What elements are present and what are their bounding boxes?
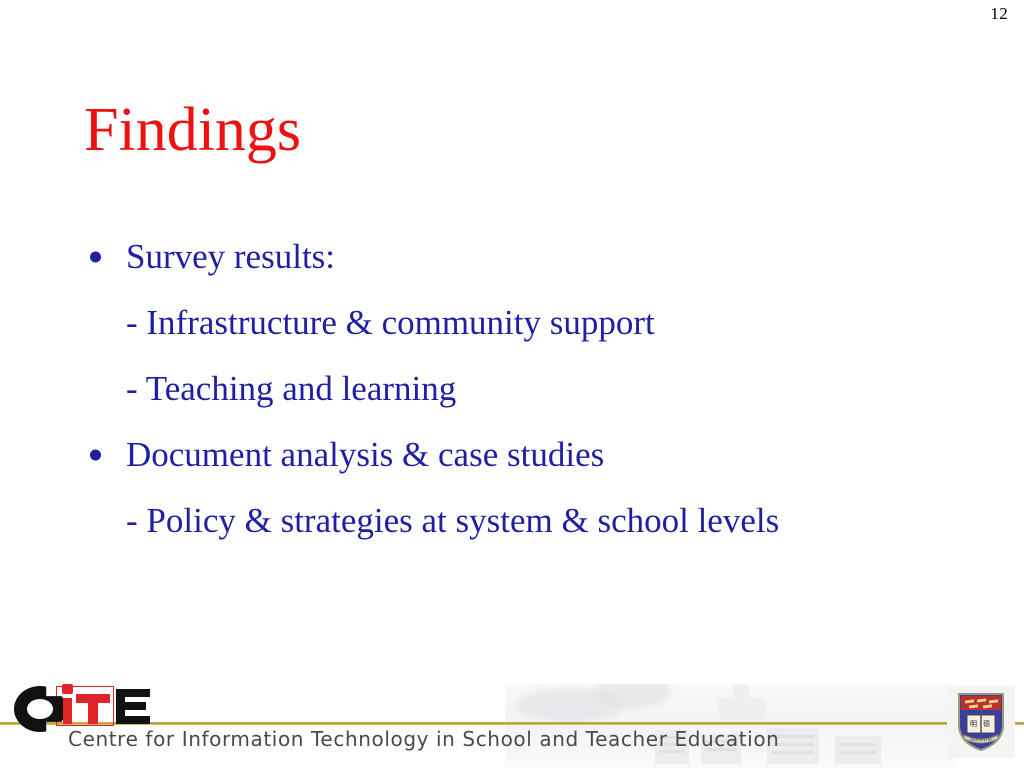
bullet-list: Survey results: - Infrastructure & commu… (84, 224, 1004, 554)
svg-text:德: 德 (983, 719, 990, 728)
list-item: - Teaching and learning (84, 356, 1004, 422)
photo-building (835, 736, 881, 764)
list-item-label: Document analysis & case studies (126, 435, 604, 474)
slide-canvas: 12 Findings Survey results: - Infrastruc… (0, 0, 1024, 768)
list-item: Survey results: (84, 224, 1004, 290)
page-title: Findings (84, 96, 301, 164)
list-item-label: - Infrastructure & community support (126, 303, 655, 342)
slide-footer: Centre for Information Technology in Sch… (0, 684, 1024, 768)
hku-crest-icon: 明 德 SAPIENTIA (947, 686, 1015, 758)
photo-tower (719, 698, 765, 722)
list-item: - Policy & strategies at system & school… (84, 488, 1004, 554)
list-item: Document analysis & case studies (84, 422, 1004, 488)
list-item-label: - Policy & strategies at system & school… (126, 501, 779, 540)
svg-text:SAPIENTIA: SAPIENTIA (970, 737, 992, 742)
page-number: 12 (990, 4, 1008, 24)
logo-letter-e-icon (116, 689, 150, 724)
campus-photo (505, 684, 955, 768)
list-item-label: - Teaching and learning (126, 369, 456, 408)
svg-text:明: 明 (970, 720, 977, 728)
cite-tagline: Centre for Information Technology in Sch… (68, 727, 779, 751)
cite-logo: Centre for Information Technology in Sch… (12, 684, 482, 768)
list-item: - Infrastructure & community support (84, 290, 1004, 356)
logo-letter-i-icon (60, 688, 75, 724)
crest-shield: 明 德 SAPIENTIA (956, 691, 1006, 753)
bullet-dot-icon (90, 252, 101, 263)
logo-letter-t-icon (76, 690, 110, 724)
bullet-dot-icon (90, 450, 101, 461)
list-item-label: Survey results: (126, 237, 335, 276)
photo-spire (737, 684, 744, 692)
